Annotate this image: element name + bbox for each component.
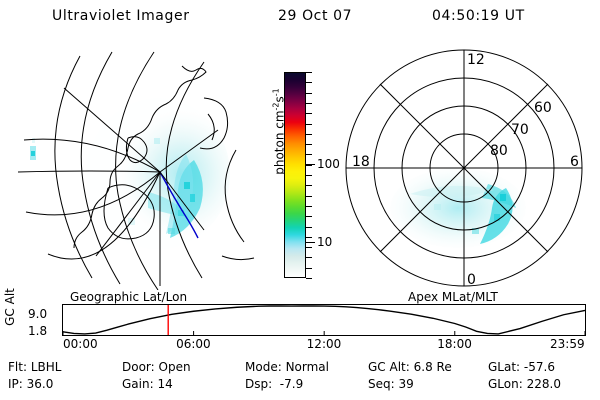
colorbar-minor-tick xyxy=(306,268,312,269)
uv-imager-display: Ultraviolet Imager 29 Oct 07 04:50:19 UT xyxy=(0,0,600,400)
orbit-altitude-plot[interactable] xyxy=(62,304,586,336)
status-gc-alt: GC Alt: 6.8 Re xyxy=(368,360,452,374)
orbit-xtick-label: 06:00 xyxy=(176,338,211,350)
colorbar-minor-tick xyxy=(306,165,312,166)
caption-geographic: Geographic Lat/Lon xyxy=(70,290,187,304)
orbit-xtick-label: 18:00 xyxy=(437,338,472,350)
colorbar-tick-axis: 10010 xyxy=(306,72,332,278)
orbit-plot-frame xyxy=(63,305,586,336)
status-row-0: Flt: LBHL Door: Open Mode: Normal GC Alt… xyxy=(0,360,600,378)
mlt-label-6: 6 xyxy=(570,154,579,170)
stray-emission-speck xyxy=(30,138,36,160)
auroral-emission-apex xyxy=(390,168,526,248)
colorbar-minor-tick xyxy=(306,278,312,279)
mlt-label-18: 18 xyxy=(352,154,370,170)
caption-apex: Apex MLat/MLT xyxy=(408,290,498,304)
mlat-label-60: 60 xyxy=(534,100,552,116)
colorbar-minor-tick xyxy=(306,72,312,73)
orbit-ytick-low: 1.8 xyxy=(28,325,47,337)
orbit-altitude-curve xyxy=(63,306,585,334)
instrument-title: Ultraviolet Imager xyxy=(52,8,190,24)
observation-time: 04:50:19 UT xyxy=(432,8,525,24)
colorbar-gradient-strip[interactable] xyxy=(284,72,306,278)
colorbar-minor-tick xyxy=(306,82,312,83)
colorbar-tick-label: 10 xyxy=(317,236,332,248)
orbit-xtick-label: 00:00 xyxy=(63,338,98,350)
status-ip: IP: 36.0 xyxy=(8,377,53,391)
status-dsp: Dsp: -7.9 xyxy=(245,377,303,391)
status-gain: Gain: 14 xyxy=(122,377,173,391)
geographic-image-panel[interactable] xyxy=(8,42,256,290)
colorbar-minor-tick xyxy=(306,237,312,238)
mlat-label-70: 70 xyxy=(511,122,529,138)
status-door: Door: Open xyxy=(122,360,191,374)
colorbar-minor-tick xyxy=(306,144,312,145)
colorbar-minor-tick xyxy=(306,103,312,104)
observation-date: 29 Oct 07 xyxy=(278,8,352,24)
status-glat: GLat: -57.6 xyxy=(488,360,555,374)
apex-polar-panel[interactable]: 12 6 0 18 60 70 80 xyxy=(338,42,590,294)
colorbar-minor-tick xyxy=(306,247,312,248)
mlat-label-80: 80 xyxy=(490,143,508,159)
colorbar-label-exp1: -2 xyxy=(272,102,281,110)
colorbar-minor-tick xyxy=(306,154,312,155)
colorbar-minor-tick xyxy=(306,185,312,186)
status-mode: Mode: Normal xyxy=(245,360,329,374)
colorbar-minor-tick xyxy=(306,227,312,228)
status-seq: Seq: 39 xyxy=(368,377,414,391)
status-row-1: IP: 36.0 Gain: 14 Dsp: -7.9 Seq: 39 GLon… xyxy=(0,377,600,395)
orbit-ytick-high: 9.0 xyxy=(28,308,47,320)
colorbar-label-exp2: -1 xyxy=(272,88,281,96)
colorbar-minor-tick xyxy=(306,257,312,258)
colorbar-major-tick xyxy=(306,242,315,243)
colorbar-minor-tick xyxy=(306,206,312,207)
mlt-label-12: 12 xyxy=(467,52,485,68)
colorbar-tick-label: 100 xyxy=(317,158,340,170)
colorbar-minor-tick xyxy=(306,124,312,125)
orbit-xtick-label: 12:00 xyxy=(307,338,342,350)
mlt-label-0: 0 xyxy=(467,272,476,288)
status-flt: Flt: LBHL xyxy=(8,360,61,374)
colorbar-minor-tick xyxy=(306,175,312,176)
orbit-xtick-label: 23:59 xyxy=(550,338,585,350)
colorbar-minor-tick xyxy=(306,134,312,135)
colorbar-minor-tick xyxy=(306,93,312,94)
colorbar-group: photon cm-2s-1 10010 xyxy=(258,64,332,289)
colorbar-minor-tick xyxy=(306,196,312,197)
status-glon: GLon: 228.0 xyxy=(488,377,561,391)
orbit-y-axis-label: GC Alt xyxy=(3,283,17,331)
status-bar: Flt: LBHL Door: Open Mode: Normal GC Alt… xyxy=(0,360,600,400)
orbit-altitude-strip: GC Alt 9.0 1.8 Geographic Lat/Lon Apex M… xyxy=(0,292,600,354)
colorbar-minor-tick xyxy=(306,113,312,114)
colorbar-minor-tick xyxy=(306,216,312,217)
header-bar: Ultraviolet Imager 29 Oct 07 04:50:19 UT xyxy=(0,4,600,30)
mlt-spokes xyxy=(346,50,582,286)
colorbar-major-tick xyxy=(306,164,315,165)
